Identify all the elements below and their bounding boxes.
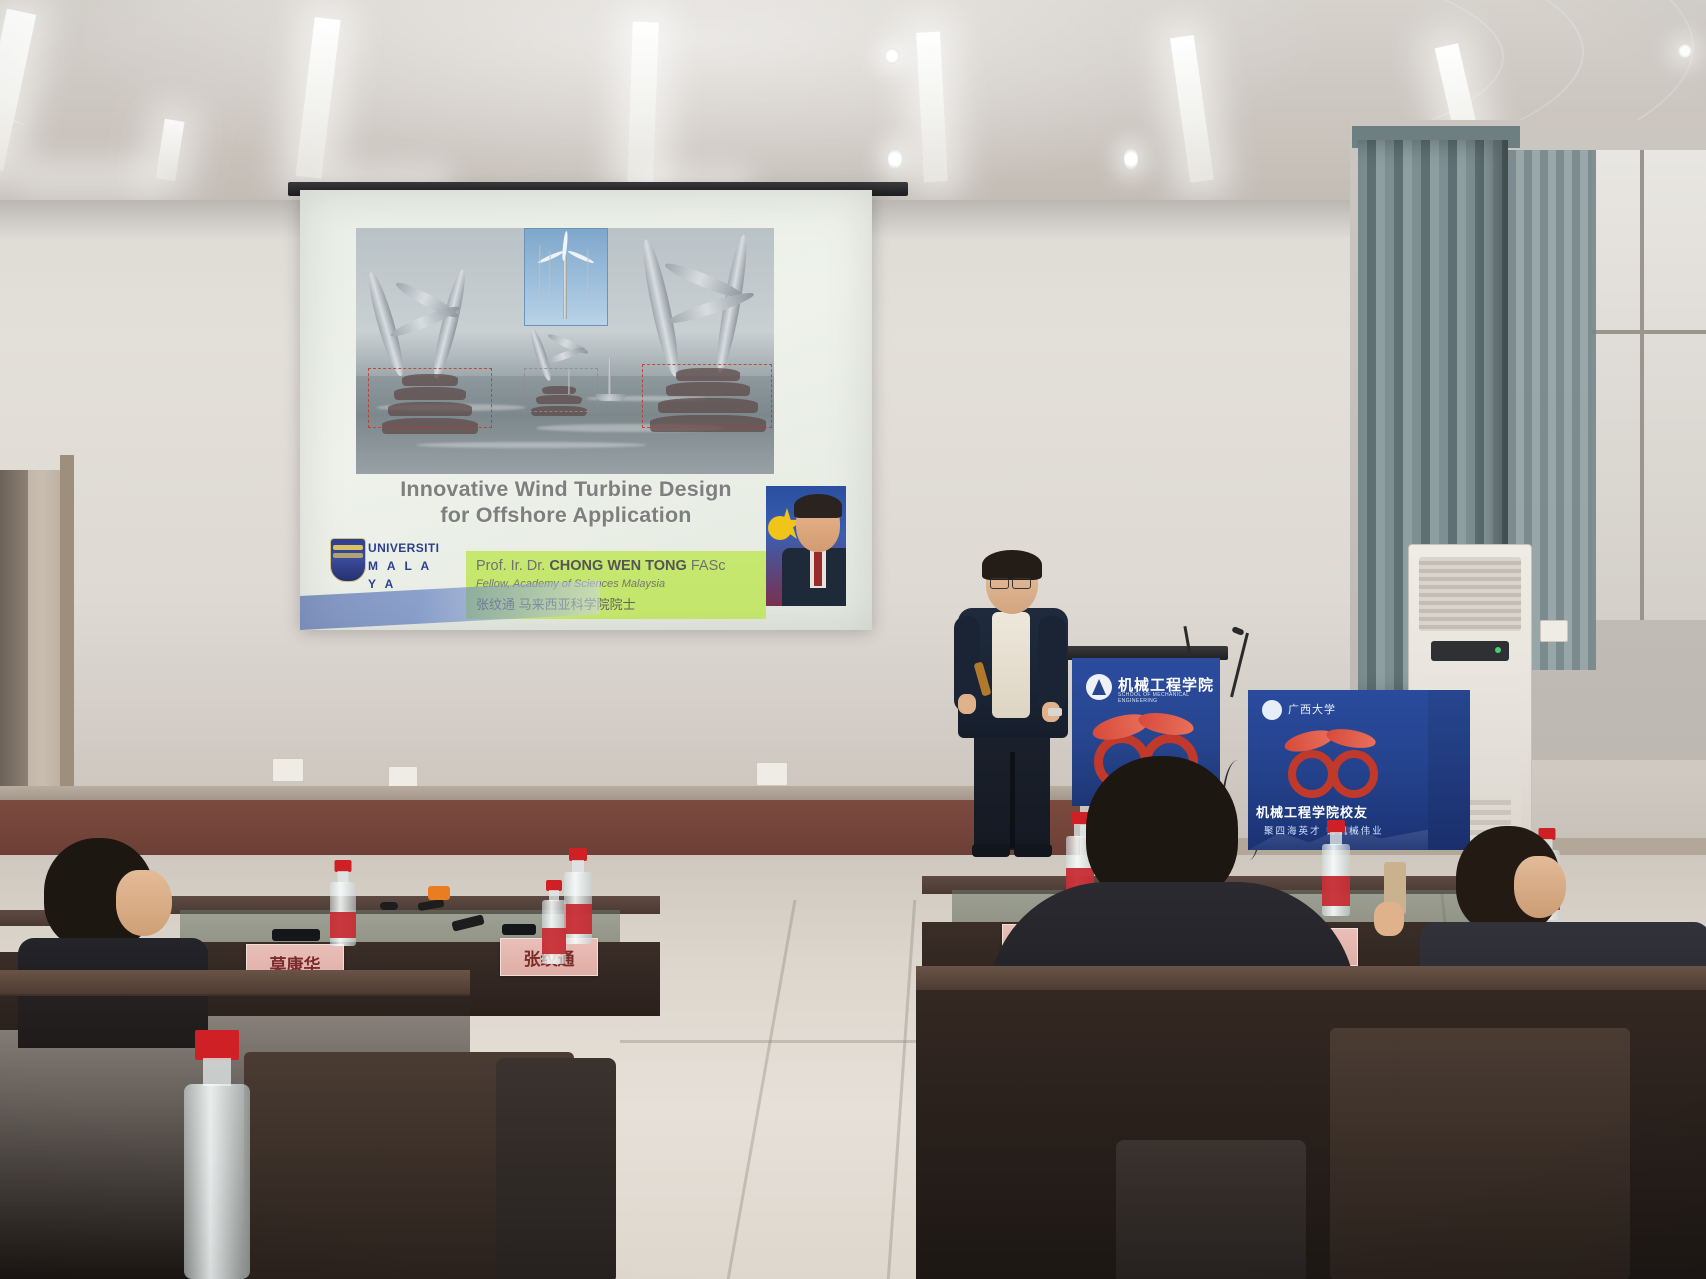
slide-title: Innovative Wind Turbine Design for Offsh…	[356, 476, 776, 528]
wall-outlet[interactable]	[388, 766, 418, 788]
speaker-name-line: Prof. Ir. Dr. CHONG WEN TONG FASc	[476, 558, 726, 574]
ceiling-downlight	[888, 148, 902, 170]
turbine-blade	[638, 238, 685, 379]
ceiling-downlight	[1124, 148, 1138, 170]
window-mullion	[1640, 150, 1644, 620]
turbine-blade	[537, 249, 564, 264]
slide-inset-image	[524, 228, 608, 326]
chair-seat[interactable]	[496, 1058, 616, 1279]
turbine-tower	[539, 245, 541, 297]
speaker-portrait	[766, 486, 846, 606]
smartphone-on-desk[interactable]	[272, 929, 320, 941]
slide-title-line1: Innovative Wind Turbine Design	[356, 476, 776, 502]
chair-back[interactable]	[1330, 1028, 1630, 1279]
presenter-wristwatch	[1048, 708, 1062, 716]
speaker-name: CHONG WEN TONG	[549, 558, 686, 574]
water-bottle[interactable]	[538, 880, 570, 964]
speaker-postnominal: FASc	[691, 558, 726, 574]
desk-top	[0, 970, 470, 996]
um-line1: UNIVERSITI	[368, 539, 445, 557]
water-bottle[interactable]	[176, 1030, 258, 1279]
banner-org-cn: 广西大学	[1288, 701, 1336, 717]
wall-outlet[interactable]	[272, 758, 304, 782]
podium-org-en: SCHOOL OF MECHANICAL ENGINEERING	[1118, 692, 1220, 704]
wall-outlet[interactable]	[1540, 620, 1568, 642]
ceiling-downlight	[1678, 44, 1692, 58]
highlight-dashed-box	[368, 368, 492, 428]
ac-grille	[1419, 557, 1521, 631]
screenshot-root: Innovative Wind Turbine Design for Offsh…	[0, 0, 1706, 1279]
attendee-face	[1514, 856, 1566, 918]
ship-mast	[568, 370, 570, 394]
desk-remote[interactable]	[380, 902, 398, 910]
slide-title-line2: for Offshore Application	[356, 502, 776, 528]
um-line2: M A L A Y A	[368, 557, 445, 593]
chair-seat[interactable]	[1116, 1140, 1306, 1279]
ship-hull	[596, 394, 626, 401]
um-shield-icon	[330, 538, 366, 582]
turbine-blade	[567, 249, 594, 264]
portrait-hair	[794, 494, 842, 518]
presenter-glasses-left	[990, 578, 1009, 589]
um-wordmark: UNIVERSITI M A L A Y A	[368, 539, 445, 593]
ceiling-downlight	[884, 48, 900, 64]
universiti-malaya-logo: UNIVERSITI M A L A Y A	[330, 536, 445, 582]
university-emblem-icon	[1086, 674, 1112, 700]
turbine-tower	[549, 251, 551, 297]
highlight-dashed-box	[642, 364, 772, 428]
ac-control-panel[interactable]	[1431, 641, 1509, 661]
attendee-face	[116, 870, 172, 936]
turbine-blade	[666, 288, 755, 327]
smartphone-on-desk[interactable]	[502, 924, 536, 935]
window-mullion	[1592, 330, 1706, 334]
portrait-tie	[814, 552, 822, 586]
ship-mast	[608, 358, 611, 394]
presenter-hand-left	[958, 694, 976, 714]
turbine-tower	[587, 249, 589, 297]
highlight-dashed-box	[524, 368, 598, 412]
turbine-blade	[429, 268, 471, 380]
wall-outlet[interactable]	[756, 762, 788, 786]
presenter-arm-right	[1038, 616, 1066, 712]
presenter-hair	[982, 550, 1042, 580]
presenter-glasses-right	[1012, 578, 1031, 589]
turbine-tower	[563, 257, 567, 319]
attendee-hand	[1374, 902, 1404, 936]
presenter-shirt	[992, 612, 1030, 718]
window-glass	[1592, 150, 1706, 620]
orange-clip[interactable]	[428, 886, 450, 900]
speaker-prefix: Prof. Ir. Dr.	[476, 558, 545, 574]
ac-status-light	[1495, 647, 1501, 653]
university-emblem-icon	[1262, 700, 1282, 720]
water-bottle[interactable]	[326, 860, 360, 946]
turbine-blade	[561, 231, 568, 261]
desk-top	[916, 966, 1706, 992]
turbine-blade	[544, 345, 586, 366]
